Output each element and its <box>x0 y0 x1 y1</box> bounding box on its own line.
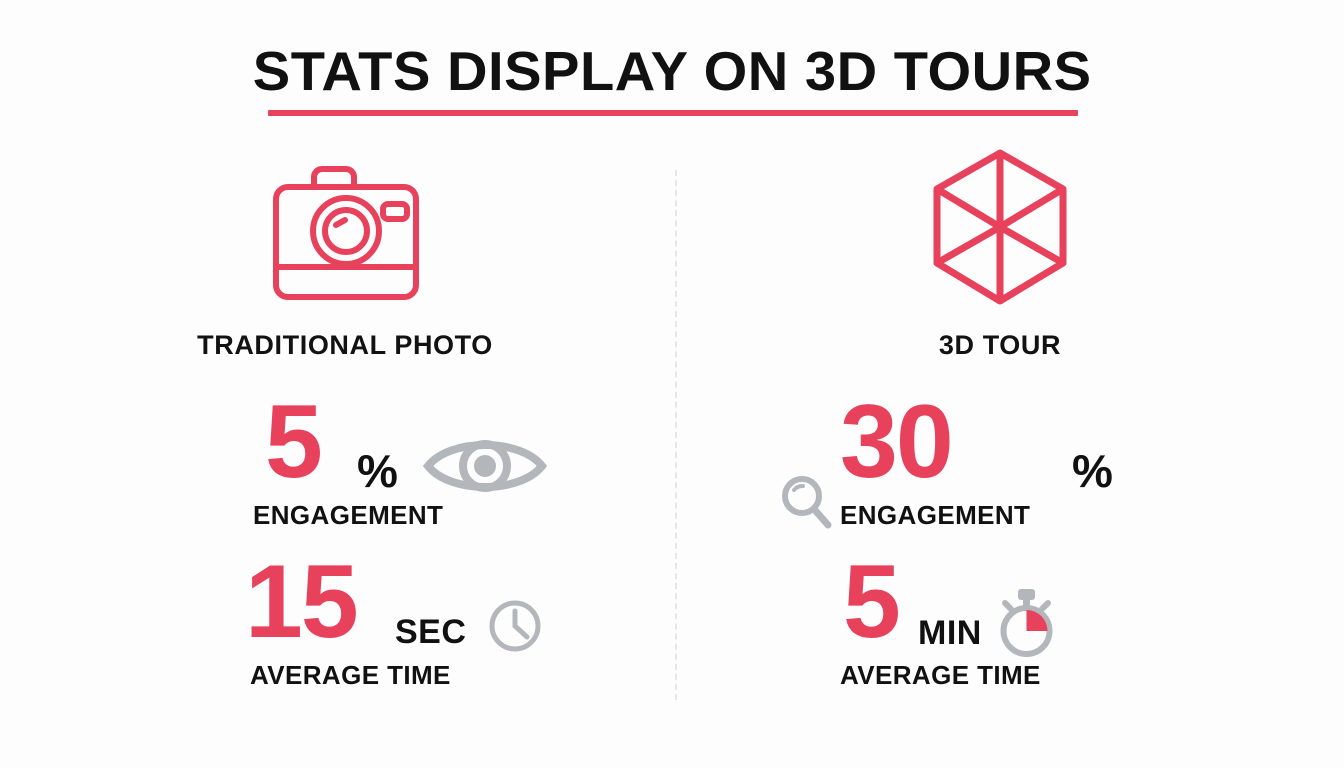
stat-engagement-traditional: 5 % ENGAGEMENT <box>25 390 665 540</box>
stat-caption: AVERAGE TIME <box>250 662 451 688</box>
stat-engagement-3dtour: 30 % ENGAGEMENT <box>680 390 1320 540</box>
title-underline <box>268 110 1078 116</box>
stat-caption: ENGAGEMENT <box>253 502 443 528</box>
column-3d-tour: 3D TOUR 30 % ENGAGEMENT 5 MIN <box>680 140 1320 720</box>
stat-unit: SEC <box>395 615 466 649</box>
cube-icon <box>680 145 1320 310</box>
stat-caption: AVERAGE TIME <box>840 662 1041 688</box>
stat-value: 30 <box>840 390 952 494</box>
stat-unit: MIN <box>918 616 982 650</box>
stat-unit: % <box>1072 448 1113 494</box>
stat-caption: ENGAGEMENT <box>840 502 1030 528</box>
stat-unit: % <box>357 448 398 494</box>
infographic-canvas: STATS DISPLAY ON 3D TOURS <box>0 0 1344 768</box>
stat-average-time-traditional: 15 SEC AVERAGE TIME <box>25 550 665 700</box>
camera-icon <box>25 145 665 310</box>
column-traditional-photo: TRADITIONAL PHOTO 5 % ENGAGEMENT 15 <box>25 140 665 720</box>
column-divider <box>675 170 677 700</box>
stat-value: 5 <box>843 550 899 654</box>
eye-icon <box>420 430 550 507</box>
stat-value: 15 <box>245 550 357 654</box>
page-title-wrap: STATS DISPLAY ON 3D TOURS <box>0 44 1344 99</box>
magnifier-icon <box>778 472 836 539</box>
column-label-traditional-photo: TRADITIONAL PHOTO <box>25 330 665 361</box>
stat-average-time-3dtour: 5 MIN AVERAGE <box>680 550 1320 700</box>
column-label-3d-tour: 3D TOUR <box>680 330 1320 361</box>
clock-icon <box>487 598 543 659</box>
stat-value: 5 <box>265 390 321 494</box>
page-title: STATS DISPLAY ON 3D TOURS <box>253 44 1092 99</box>
stopwatch-icon <box>990 585 1062 666</box>
